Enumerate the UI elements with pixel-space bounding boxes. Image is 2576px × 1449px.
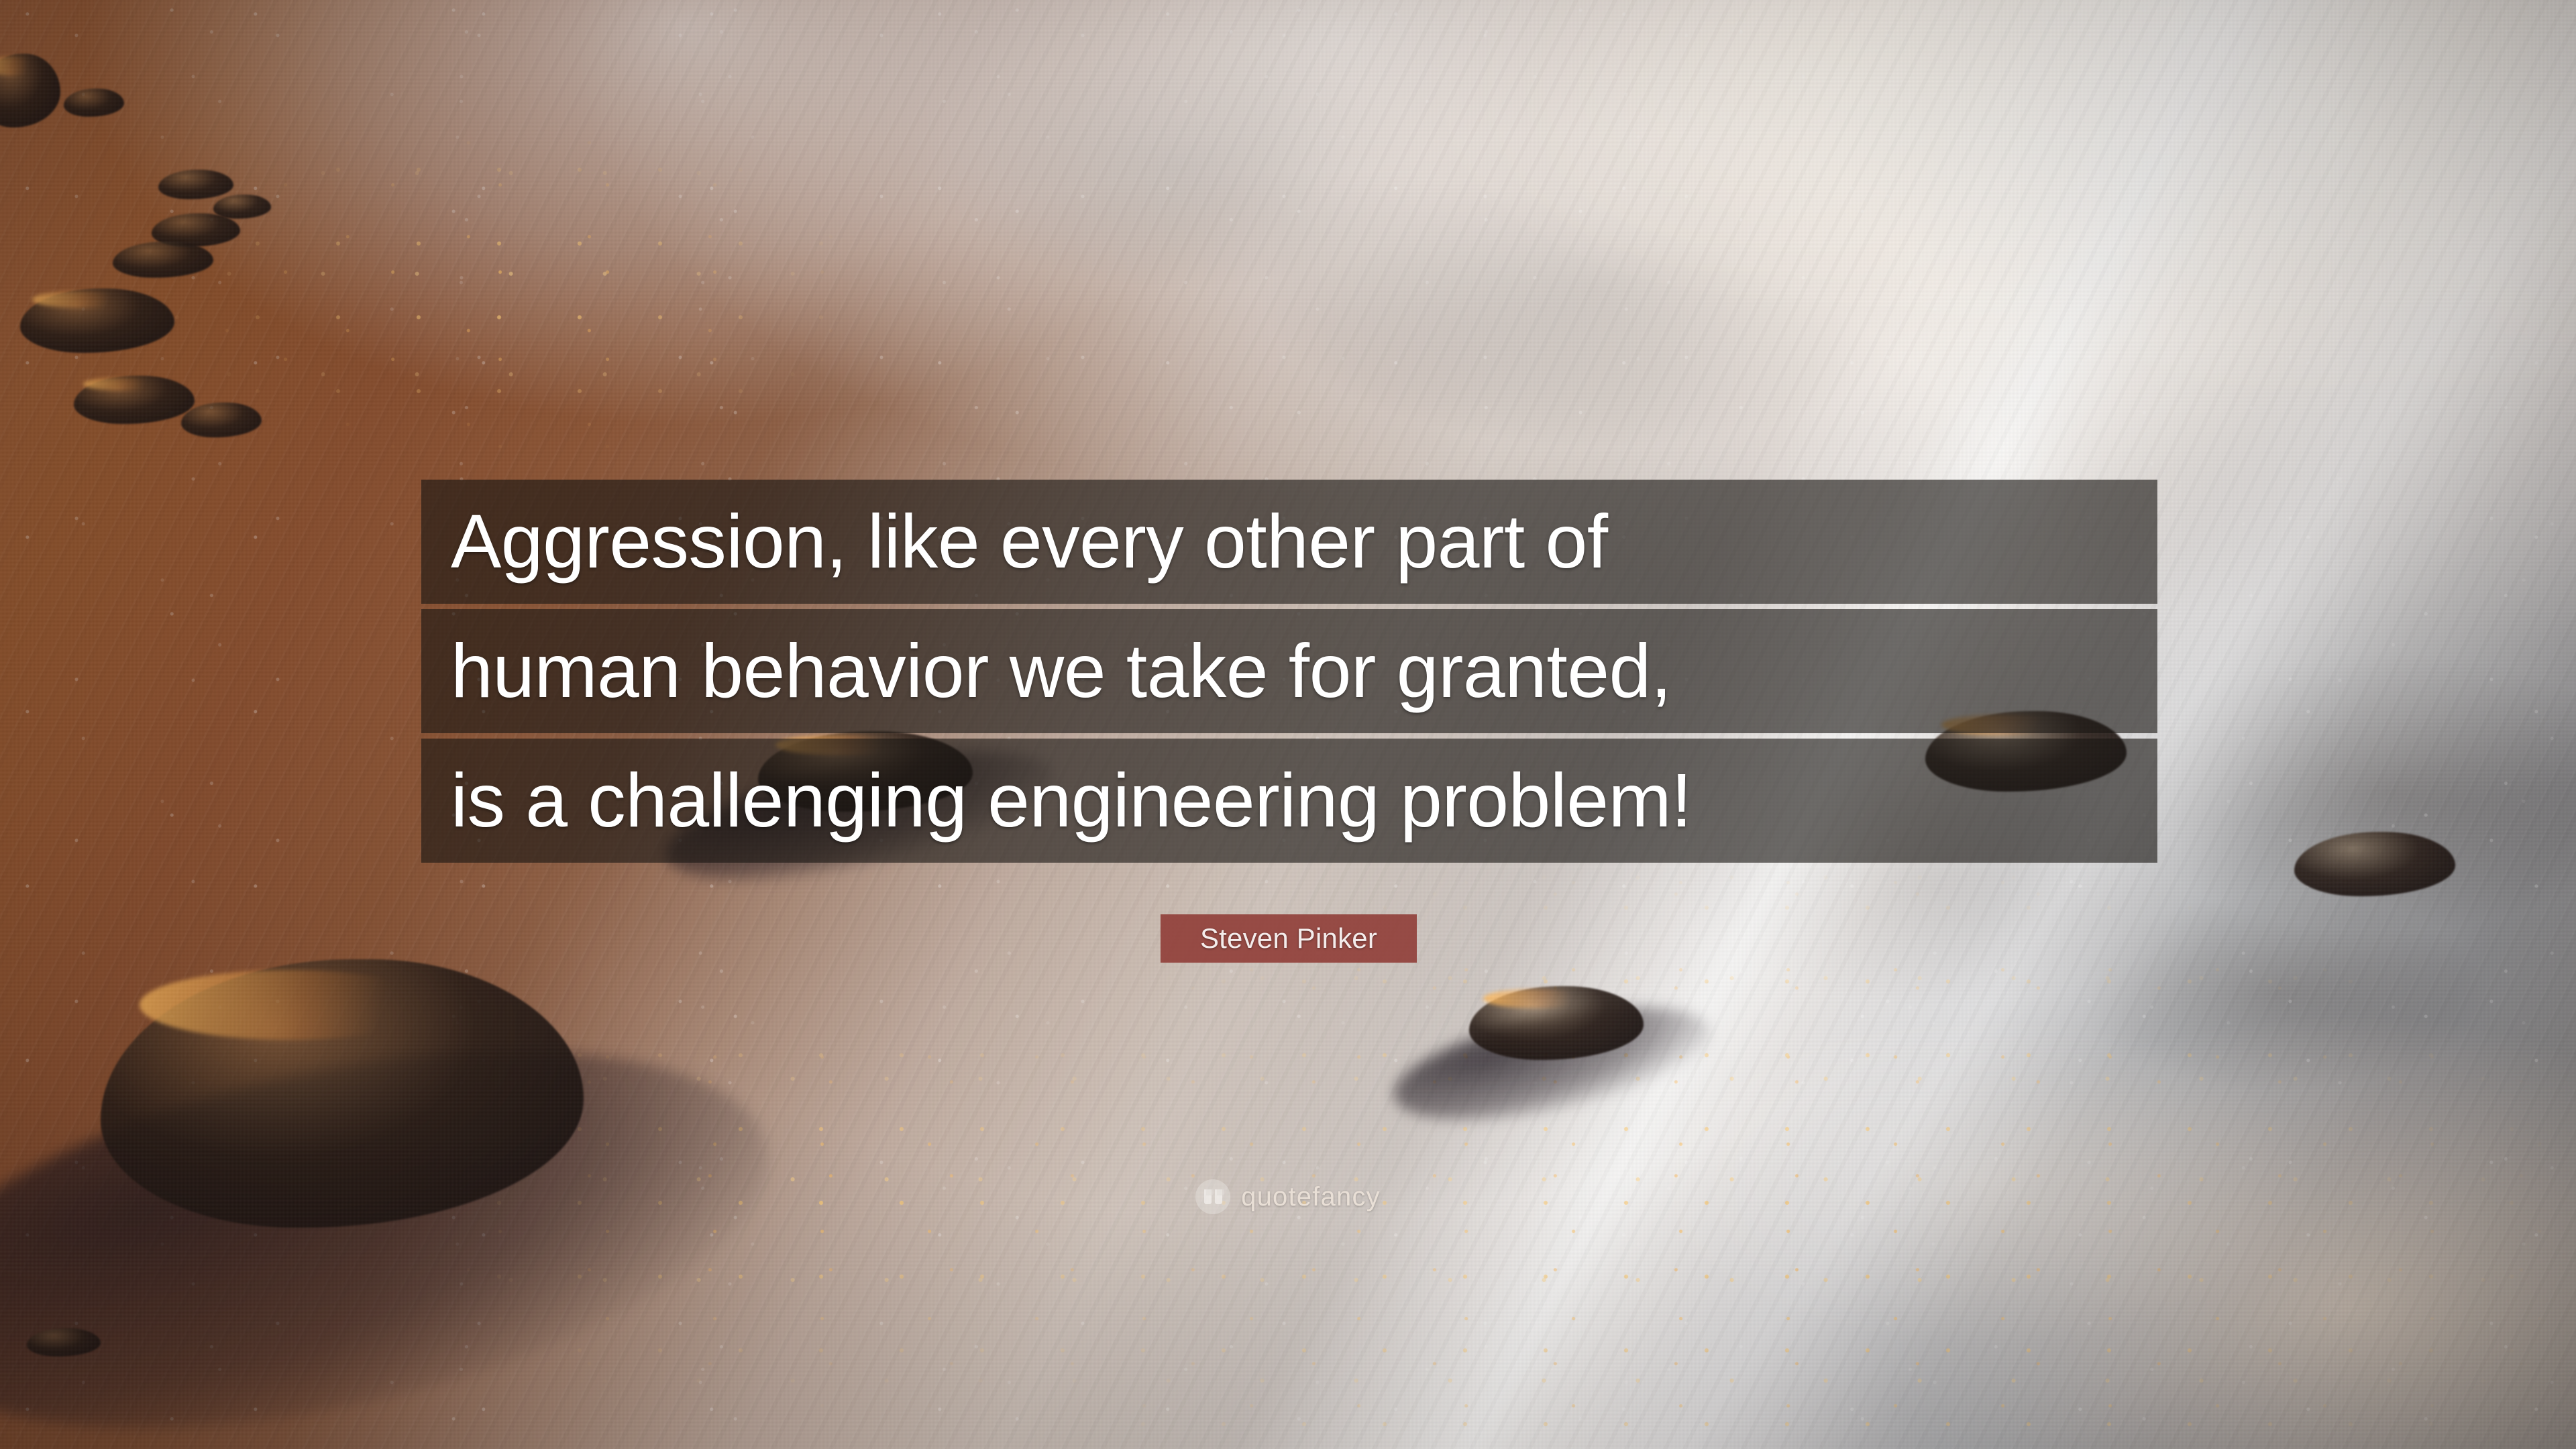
quotefancy-watermark: quotefancy xyxy=(0,1179,2576,1214)
quote-glyph-right xyxy=(1215,1189,1222,1204)
rock-cluster-left xyxy=(20,288,174,353)
rock-bottom-left-tiny xyxy=(27,1328,101,1356)
quote-line-3-text: is a challenging engineering problem! xyxy=(451,761,1692,841)
quote-line-1: Aggression, like every other part of xyxy=(421,480,2157,604)
quote-line-1-text: Aggression, like every other part of xyxy=(451,502,1608,582)
quote-line-2: human behavior we take for granted, xyxy=(421,609,2157,733)
rock-mid-left-a xyxy=(74,376,195,424)
watermark-brand-label: quotefancy xyxy=(1241,1182,1381,1212)
quote-poster: Aggression, like every other part of hum… xyxy=(0,0,2576,1449)
quote-line-3: is a challenging engineering problem! xyxy=(421,739,2157,863)
quote-line-2-text: human behavior we take for granted, xyxy=(451,631,1672,712)
rock-upper-left-small xyxy=(64,89,124,117)
rock-right-of-centre xyxy=(1469,986,1644,1060)
quote-glyph-left xyxy=(1204,1189,1212,1204)
rock-left-edge xyxy=(0,54,60,127)
rock-kelp-a xyxy=(158,170,233,199)
rock-kelp-d xyxy=(113,241,213,278)
rock-surf-far-right xyxy=(2294,832,2455,896)
author-name: Steven Pinker xyxy=(1200,924,1377,953)
rock-kelp-b xyxy=(213,195,271,219)
author-attribution-badge: Steven Pinker xyxy=(1161,914,1417,963)
rock-mid-left-b xyxy=(181,402,262,437)
quote-text-block: Aggression, like every other part of hum… xyxy=(421,480,2157,863)
quotation-mark-icon xyxy=(1195,1179,1230,1214)
rock-right-of-centre-shadow xyxy=(1385,985,1719,1142)
rock-big-foreground-shadow xyxy=(0,983,802,1449)
rock-kelp-c xyxy=(152,213,240,247)
